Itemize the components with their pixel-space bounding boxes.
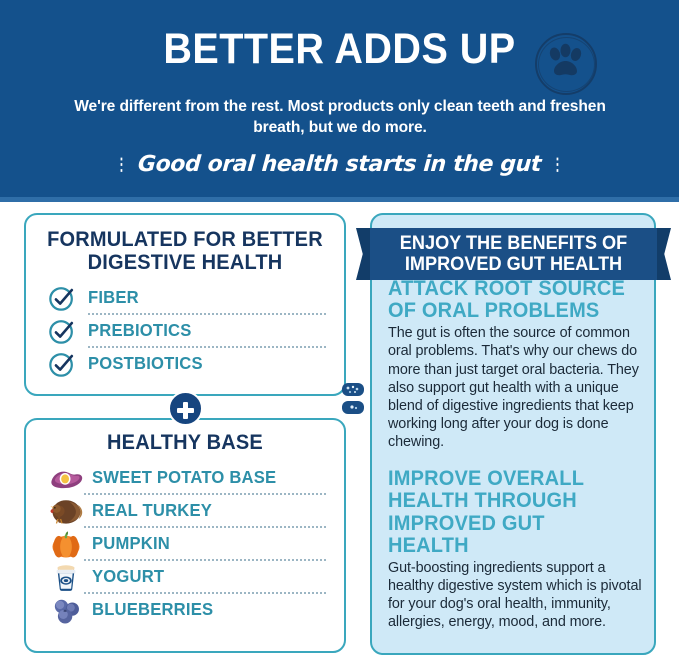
tagline-tick-left-icon: ⋮ bbox=[116, 156, 128, 173]
list-item: SWEET POTATO BASE bbox=[26, 461, 344, 494]
header-banner: BETTER ADDS UP We're different from the … bbox=[0, 0, 679, 197]
formulated-card-title: FORMULATED FOR BETTER DIGESTIVE HEALTH bbox=[37, 228, 333, 274]
list-item: PUMPKIN bbox=[26, 527, 344, 560]
banner-text: ENJOY THE BENEFITS OF IMPROVED GUT HEALT… bbox=[380, 228, 647, 280]
paw-print-logo bbox=[535, 33, 597, 95]
header-tagline: Good oral health starts in the gut bbox=[137, 152, 542, 177]
header-tagline-row: ⋮ Good oral health starts in the gut ⋮ bbox=[0, 152, 679, 177]
sweet-potato-icon bbox=[48, 463, 84, 493]
benefits-content: ATTACK ROOT SOURCE OF ORAL PROBLEMS The … bbox=[372, 277, 658, 631]
list-item-label: PREBIOTICS bbox=[88, 320, 192, 341]
blueberries-icon bbox=[48, 595, 84, 625]
header-subtitle: We're different from the rest. Most prod… bbox=[60, 96, 620, 138]
header-divider bbox=[0, 197, 679, 202]
benefit-body: Gut-boosting ingredients support a healt… bbox=[388, 559, 644, 632]
dog-chew-icon bbox=[342, 401, 364, 414]
list-item: REAL TURKEY bbox=[26, 494, 344, 527]
list-item-label: SWEET POTATO BASE bbox=[92, 467, 276, 488]
plus-circle-icon bbox=[168, 391, 203, 426]
formulated-item-list: FIBER PREBIOTICS POSTBIOTICS bbox=[26, 281, 344, 380]
banner-left-tail bbox=[356, 228, 371, 280]
pumpkin-icon bbox=[48, 529, 84, 559]
list-item-label: PUMPKIN bbox=[92, 533, 170, 554]
list-item-label: BLUEBERRIES bbox=[92, 599, 213, 620]
benefit-heading: ATTACK ROOT SOURCE OF ORAL PROBLEMS bbox=[388, 277, 626, 321]
list-item: BLUEBERRIES bbox=[26, 593, 344, 626]
list-item-label: REAL TURKEY bbox=[92, 500, 212, 521]
banner-line-1: ENJOY THE BENEFITS OF bbox=[400, 233, 627, 254]
healthy-base-card: HEALTHY BASE SWEET POTATO BASE bbox=[24, 418, 346, 653]
list-item: POSTBIOTICS bbox=[26, 347, 344, 380]
turkey-icon bbox=[48, 496, 84, 526]
benefit-body: The gut is often the source of common or… bbox=[388, 324, 644, 451]
list-item-label: POSTBIOTICS bbox=[88, 353, 203, 374]
banner-line-2: IMPROVED GUT HEALTH bbox=[405, 254, 622, 275]
benefit-heading: IMPROVE OVERALL HEALTH THROUGH IMPROVED … bbox=[388, 467, 626, 556]
formulated-card: FORMULATED FOR BETTER DIGESTIVE HEALTH F… bbox=[24, 213, 346, 396]
healthy-base-card-title: HEALTHY BASE bbox=[37, 431, 333, 454]
plus-vertical-bar bbox=[183, 402, 188, 419]
check-circle-icon bbox=[48, 284, 76, 312]
tagline-tick-right-icon: ⋮ bbox=[552, 156, 564, 173]
list-item-label: YOGURT bbox=[92, 566, 164, 587]
banner-right-tail bbox=[656, 228, 671, 280]
chew-texture bbox=[342, 401, 364, 414]
dog-chew-icon bbox=[342, 383, 364, 396]
check-circle-icon bbox=[48, 350, 76, 378]
chew-texture bbox=[342, 383, 364, 396]
benefits-banner: ENJOY THE BENEFITS OF IMPROVED GUT HEALT… bbox=[356, 228, 671, 280]
yogurt-icon bbox=[48, 562, 84, 592]
check-circle-icon bbox=[48, 317, 76, 345]
list-item: PREBIOTICS bbox=[26, 314, 344, 347]
list-item: FIBER bbox=[26, 281, 344, 314]
paw-icon bbox=[544, 41, 586, 83]
list-item-label: FIBER bbox=[88, 287, 139, 308]
healthy-base-item-list: SWEET POTATO BASE REAL TURKEY bbox=[26, 461, 344, 626]
infographic-page: BETTER ADDS UP We're different from the … bbox=[0, 0, 679, 663]
list-item: YOGURT bbox=[26, 560, 344, 593]
